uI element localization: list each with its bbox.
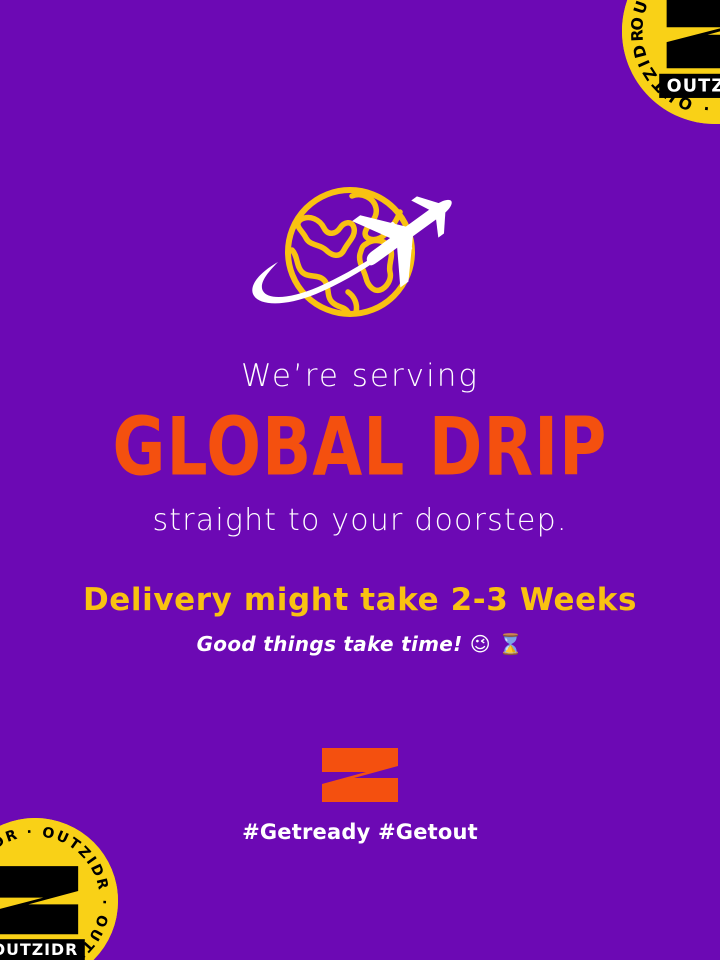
good-things-line: Good things take time! 😉 ⌛	[0, 634, 720, 655]
globe-airplane-illustration	[0, 176, 720, 348]
poster-canvas: OUTZIDR · OUTZIDR · OUTZIDR · OUTZIDR · …	[0, 0, 720, 960]
svg-text:OUTZIDR: OUTZIDR	[667, 76, 720, 96]
serving-line: We’re serving	[0, 360, 720, 393]
badge-wordmark: OUTZIDR	[659, 74, 720, 98]
footer-brand: #Getready #Getout	[0, 746, 720, 844]
hourglass-icon: ⌛	[498, 632, 523, 656]
outzidr-badge-top-right: OUTZIDR · OUTZIDR · OUTZIDR · OUTZIDR · …	[622, 0, 720, 124]
z-logo-icon	[320, 746, 400, 804]
delivery-estimate: Delivery might take 2-3 Weeks	[0, 584, 720, 617]
wink-face-icon: 😉	[470, 632, 491, 656]
page-title: GLOBAL DRIP	[0, 407, 720, 488]
good-things-text: Good things take time!	[197, 632, 463, 656]
badge-wordmark: OUTZIDR	[0, 939, 85, 960]
hashtags: #Getready #Getout	[0, 820, 720, 844]
doorstep-line: straight to your doorstep.	[0, 505, 720, 537]
svg-text:OUTZIDR: OUTZIDR	[0, 940, 78, 959]
copy-block: We’re serving GLOBAL DRIP straight to yo…	[0, 360, 720, 655]
